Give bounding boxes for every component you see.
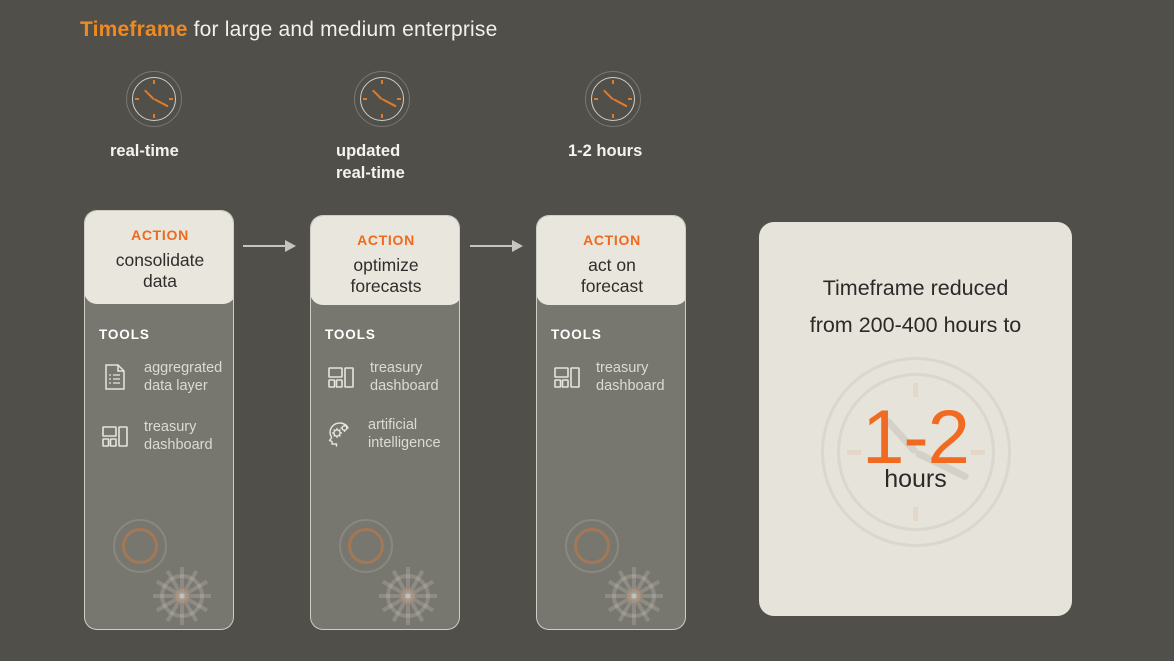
tool-item[interactable]: aggregrated data layer <box>99 359 222 396</box>
arrow-right-icon <box>243 240 296 252</box>
tool-label: treasury dashboard <box>144 418 213 455</box>
action-kicker: ACTION <box>90 227 230 243</box>
action-header: ACTION consolidate data <box>84 210 234 304</box>
result-headline: Timeframe reduced from 200-400 hours to <box>759 270 1072 344</box>
timeline-clock-2: 1-2 hours <box>585 71 642 163</box>
tools-heading: TOOLS <box>99 327 150 342</box>
page-title-strong: Timeframe <box>80 18 188 41</box>
tool-label: treasury dashboard <box>370 359 439 396</box>
timeline-clock-label-0: real-time <box>110 141 182 163</box>
process-card-optimize[interactable]: ACTION optimize forecasts TOOLS treasury… <box>310 215 460 630</box>
timeline-clock-1: updated real-time <box>354 71 410 185</box>
document-list-icon <box>99 361 131 393</box>
action-text: optimize forecasts <box>316 255 456 298</box>
action-kicker: ACTION <box>316 232 456 248</box>
dashboard-icon <box>551 361 583 393</box>
dashboard-icon <box>325 361 357 393</box>
process-card-act[interactable]: ACTION act on forecast TOOLS treasury da… <box>536 215 686 630</box>
action-text: act on forecast <box>542 255 682 298</box>
timeline-clock-label-2: 1-2 hours <box>568 141 642 163</box>
tool-item[interactable]: artificial intelligence <box>323 416 441 453</box>
action-text: consolidate data <box>90 250 230 293</box>
tools-heading: TOOLS <box>551 327 602 342</box>
clock-icon <box>354 71 410 127</box>
result-panel: Timeframe reduced from 200-400 hours to … <box>759 222 1072 616</box>
tool-item[interactable]: treasury dashboard <box>551 359 665 396</box>
timeline-clock-label-1: updated real-time <box>336 141 410 185</box>
tools-heading: TOOLS <box>325 327 376 342</box>
page-title-rest: for large and medium enterprise <box>194 18 498 41</box>
timeline-clock-0: real-time <box>126 71 182 163</box>
tool-label: aggregrated data layer <box>144 359 222 396</box>
process-card-consolidate[interactable]: ACTION consolidate data TOOLS aggregrate… <box>84 210 234 630</box>
clock-icon <box>126 71 182 127</box>
action-header: ACTION act on forecast <box>536 215 686 305</box>
ai-head-gears-icon <box>323 418 355 450</box>
action-kicker: ACTION <box>542 232 682 248</box>
action-header: ACTION optimize forecasts <box>310 215 460 305</box>
page-title: Timeframefor large and medium enterprise <box>80 18 498 42</box>
clock-icon <box>585 71 641 127</box>
dashboard-icon <box>99 420 131 452</box>
tool-label: artificial intelligence <box>368 416 441 453</box>
tool-label: treasury dashboard <box>596 359 665 396</box>
tool-item[interactable]: treasury dashboard <box>99 418 213 455</box>
result-unit: hours <box>759 467 1072 492</box>
tool-item[interactable]: treasury dashboard <box>325 359 439 396</box>
arrow-right-icon <box>470 240 523 252</box>
